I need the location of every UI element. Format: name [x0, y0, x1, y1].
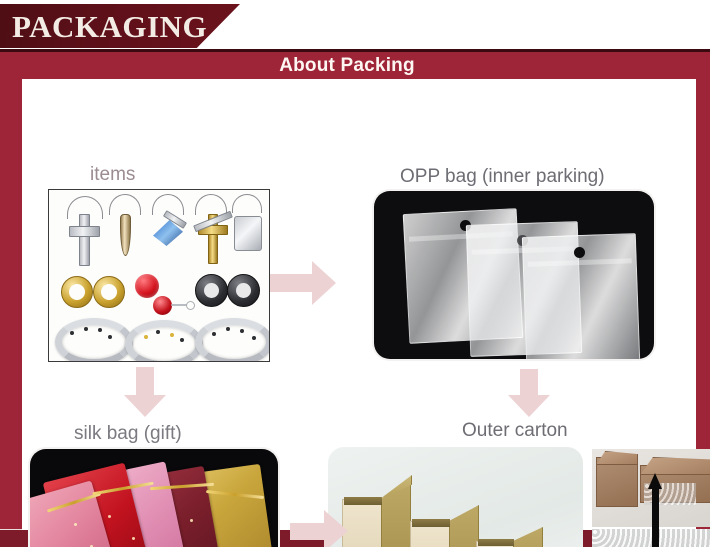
opp-bag-photo [374, 191, 654, 359]
about-packing-title: About Packing [0, 52, 702, 79]
infographic-canvas: items OPP bag (inner parking) silk bag (… [22, 79, 696, 530]
earring-black-hoop-right [227, 274, 260, 307]
carton-box-large [342, 475, 420, 547]
pendant-gold-cross [189, 194, 233, 266]
pendant-blue-arrow [147, 194, 191, 266]
kraft-box-flap-left [596, 451, 638, 465]
packaging-banner-title: PACKAGING [0, 11, 207, 42]
pendant-gold-bullet [107, 194, 143, 264]
arrow-items-to-opp-bag [270, 261, 336, 305]
arrow-silk-bag-to-carton [290, 511, 346, 547]
items-photo [48, 189, 270, 362]
packaging-banner: PACKAGING [0, 4, 240, 48]
about-packing-title-bar: About Packing [0, 52, 710, 79]
earring-gold-hoop-left [61, 276, 93, 308]
pendant-silver-cross [63, 196, 103, 264]
double-vertical-arrow [648, 473, 662, 547]
silk-sparkle [132, 537, 135, 540]
header-zone: PACKAGING [0, 0, 710, 52]
silk-bag-photo [30, 449, 278, 547]
bracelet-silver-black-stone [55, 318, 133, 362]
outer-carton-photo [328, 447, 583, 547]
bracelet-silver-black-oval [195, 318, 270, 362]
silk-sparkle [74, 523, 77, 526]
carton-box-small [476, 521, 552, 547]
arrow-items-to-silk-bag [124, 367, 166, 419]
outer-carton-label: Outer carton [462, 421, 568, 440]
double-arrow-shaft [652, 487, 659, 547]
silk-bag-label: silk bag (gift) [74, 424, 182, 443]
earring-black-hoop-left [195, 274, 228, 307]
packaging-infographic: PACKAGING About Packing items OPP bag (i… [0, 0, 710, 547]
opp-bag-label: OPP bag (inner parking) [400, 167, 605, 186]
silk-sparkle [190, 519, 193, 522]
arrow-opp-bag-to-carton [508, 369, 550, 419]
items-label: items [90, 165, 135, 184]
pendant-silver-tag [229, 194, 267, 266]
silk-sparkle [108, 515, 111, 518]
earring-gold-hoop-right [93, 276, 125, 308]
bracelet-silver-gold-stone [125, 320, 203, 362]
opp-bag-hole-3 [574, 247, 585, 258]
frame-left-border [0, 52, 22, 547]
